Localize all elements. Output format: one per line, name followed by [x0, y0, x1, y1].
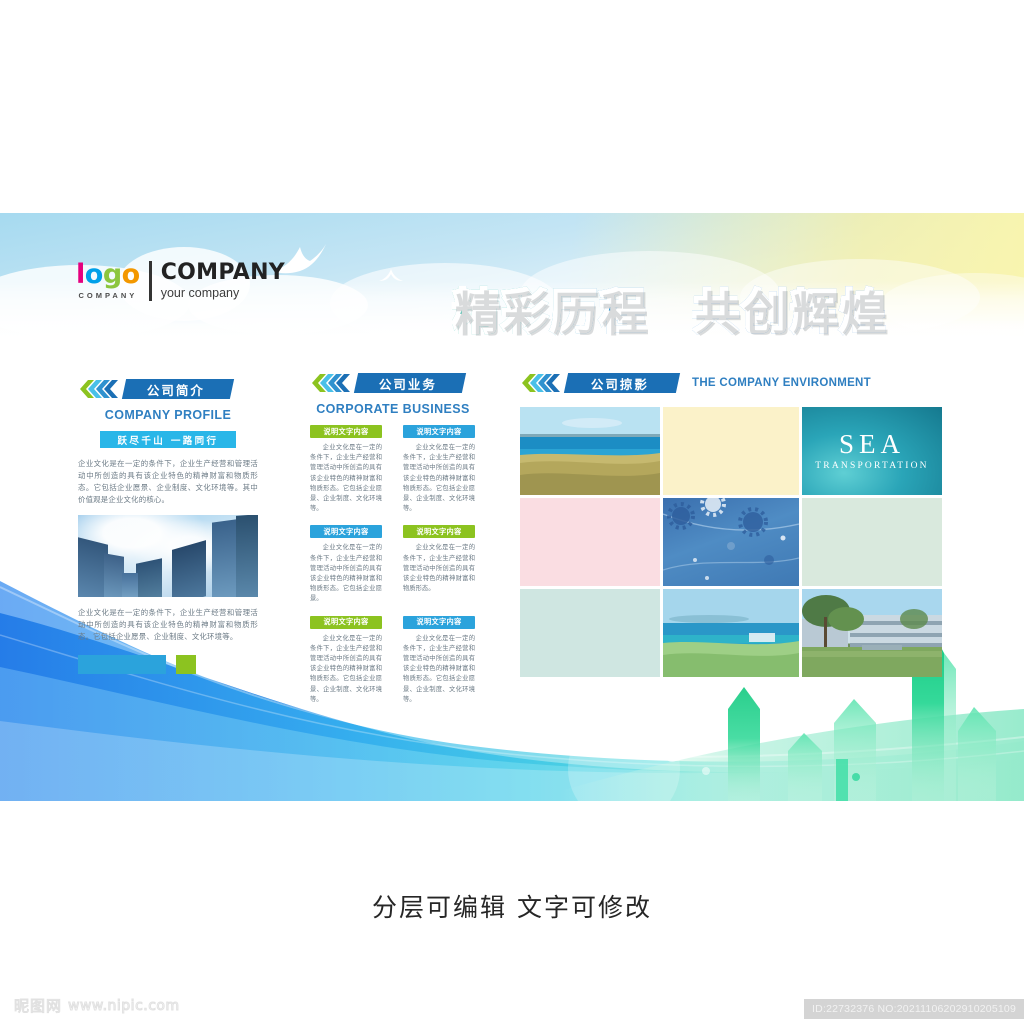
- aqua-placeholder: [520, 589, 660, 677]
- watermark: 昵图网 www.nipic.com: [14, 995, 180, 1016]
- cream-placeholder: [663, 407, 799, 495]
- section-english-subtitle: THE COMPANY ENVIRONMENT: [692, 377, 871, 389]
- logo-letter-o1: o: [85, 259, 103, 290]
- sea-subtitle: TRANSPORTATION: [815, 461, 928, 471]
- logo-text-block: COMPANY your company: [161, 262, 285, 300]
- logo-divider: [149, 261, 152, 301]
- blue-floral-photo: [663, 498, 799, 586]
- business-badge: 说明文字内容: [403, 616, 475, 629]
- section-header: 公司业务: [310, 373, 476, 393]
- campus-building-photo: [802, 589, 942, 677]
- accent-bar-green: [176, 655, 196, 674]
- business-block: 说明文字内容 企业文化是在一定的条件下，企业生产经营和管理活动中所创造的具有该企…: [310, 425, 382, 514]
- building-shape: [122, 573, 138, 597]
- section-corporate-business: 公司业务 CORPORATE BUSINESS 说明文字内容 企业文化是在一定的…: [310, 373, 476, 705]
- page-root: logo COMPANY COMPANY your company 精彩历程 共…: [0, 0, 1024, 1024]
- logo-letter-o2: o: [122, 259, 140, 290]
- photo-grid: SEA TRANSPORTATION: [520, 407, 942, 677]
- coastline-photo: [663, 589, 799, 677]
- logo-company-name: COMPANY: [161, 262, 285, 284]
- bird-icon: [378, 267, 404, 283]
- chevron-left-icon: [78, 379, 124, 399]
- section-banner-label: 公司简介: [147, 380, 205, 399]
- watermark-site-name: 昵图网: [14, 995, 62, 1016]
- building-shape: [212, 519, 236, 597]
- business-blocks-grid: 说明文字内容 企业文化是在一定的条件下，企业生产经营和管理活动中所创造的具有该企…: [310, 425, 476, 705]
- accent-bar-row: [78, 655, 258, 674]
- business-block: 说明文字内容 企业文化是在一定的条件下，企业生产经营和管理活动中所创造的具有该企…: [310, 525, 382, 604]
- section-banner: 公司业务: [354, 373, 466, 393]
- logo-letter-g: g: [103, 259, 122, 290]
- section-company-environment: 公司掠影 THE COMPANY ENVIRONMENT: [520, 373, 942, 677]
- business-block: 说明文字内容 企业文化是在一定的条件下，企业生产经营和管理活动中所创造的具有该企…: [403, 425, 475, 514]
- section-header: 公司简介: [78, 379, 258, 399]
- company-slogan-badge: 跃尽千山 一路同行: [100, 431, 236, 448]
- business-text: 企业文化是在一定的条件下，企业生产经营和管理活动中所创造的具有该企业特色的精神财…: [403, 443, 475, 514]
- business-text: 企业文化是在一定的条件下，企业生产经营和管理活动中所创造的具有该企业特色的精神财…: [310, 634, 382, 705]
- logo-company-tagline: your company: [161, 287, 285, 300]
- mint-placeholder: [802, 498, 942, 586]
- business-text: 企业文化是在一定的条件下，企业生产经营和管理活动中所创造的具有该企业特色的精神财…: [310, 543, 382, 604]
- business-block: 说明文字内容 企业文化是在一定的条件下，企业生产经营和管理活动中所创造的具有该企…: [310, 616, 382, 705]
- logo-letter-l: l: [76, 259, 85, 290]
- watermark-url: www.nipic.com: [68, 998, 180, 1014]
- business-badge: 说明文字内容: [310, 616, 382, 629]
- profile-paragraph-2: 企业文化是在一定的条件下，企业生产经营和管理活动中所创造的具有该企业特色的精神财…: [78, 607, 258, 643]
- business-badge: 说明文字内容: [310, 425, 382, 438]
- title-part-1: 精彩历程: [452, 273, 648, 342]
- section-english-subtitle: CORPORATE BUSINESS: [310, 402, 476, 416]
- logo-subtext: COMPANY: [76, 291, 140, 300]
- business-block: 说明文字内容 企业文化是在一定的条件下，企业生产经营和管理活动中所创造的具有该企…: [403, 525, 475, 604]
- building-shape: [136, 558, 162, 597]
- skyscrapers-photo: [78, 515, 258, 597]
- poster-canvas: logo COMPANY COMPANY your company 精彩历程 共…: [0, 213, 1024, 801]
- business-text: 企业文化是在一定的条件下，企业生产经营和管理活动中所创造的具有该企业特色的精神财…: [403, 634, 475, 705]
- building-shape: [172, 540, 206, 597]
- section-company-profile: 公司简介 COMPANY PROFILE 跃尽千山 一路同行 企业文化是在一定的…: [78, 379, 258, 674]
- section-header: 公司掠影 THE COMPANY ENVIRONMENT: [520, 373, 942, 393]
- pink-placeholder: [520, 498, 660, 586]
- poster-main-title: 精彩历程 共创辉煌: [452, 273, 888, 342]
- image-id-badge: ID:22732376 NO:20211106202910205109: [804, 999, 1024, 1019]
- beach-photo: [520, 407, 660, 495]
- logo-mark: logo COMPANY: [76, 262, 149, 300]
- building-shape: [236, 515, 258, 597]
- chevron-left-icon: [520, 373, 566, 393]
- profile-paragraph-1: 企业文化是在一定的条件下，企业生产经营和管理活动中所创造的具有该企业特色的精神财…: [78, 458, 258, 506]
- business-text: 企业文化是在一定的条件下，企业生产经营和管理活动中所创造的具有该企业特色的精神财…: [403, 543, 475, 594]
- section-banner: 公司掠影: [564, 373, 680, 393]
- business-badge: 说明文字内容: [310, 525, 382, 538]
- section-banner-label: 公司掠影: [591, 374, 649, 393]
- business-text: 企业文化是在一定的条件下，企业生产经营和管理活动中所创造的具有该企业特色的精神财…: [310, 443, 382, 514]
- section-banner-label: 公司业务: [379, 374, 437, 393]
- editable-tagline: 分层可编辑 文字可修改: [0, 888, 1024, 924]
- section-english-subtitle: COMPANY PROFILE: [78, 408, 258, 422]
- section-banner: 公司简介: [122, 379, 234, 399]
- logo-wordmark: logo: [76, 262, 140, 288]
- chevron-left-icon: [310, 373, 356, 393]
- sea-transportation-photo: SEA TRANSPORTATION: [802, 407, 942, 495]
- title-part-2: 共创辉煌: [692, 273, 888, 342]
- accent-bar-blue: [78, 655, 166, 674]
- footer-bar: 昵图网 www.nipic.com ID:22732376 NO:2021110…: [0, 985, 1024, 1024]
- sea-title: SEA: [839, 431, 905, 458]
- company-logo: logo COMPANY COMPANY your company: [76, 261, 285, 301]
- building-shape: [104, 553, 124, 597]
- business-badge: 说明文字内容: [403, 425, 475, 438]
- business-badge: 说明文字内容: [403, 525, 475, 538]
- business-block: 说明文字内容 企业文化是在一定的条件下，企业生产经营和管理活动中所创造的具有该企…: [403, 616, 475, 705]
